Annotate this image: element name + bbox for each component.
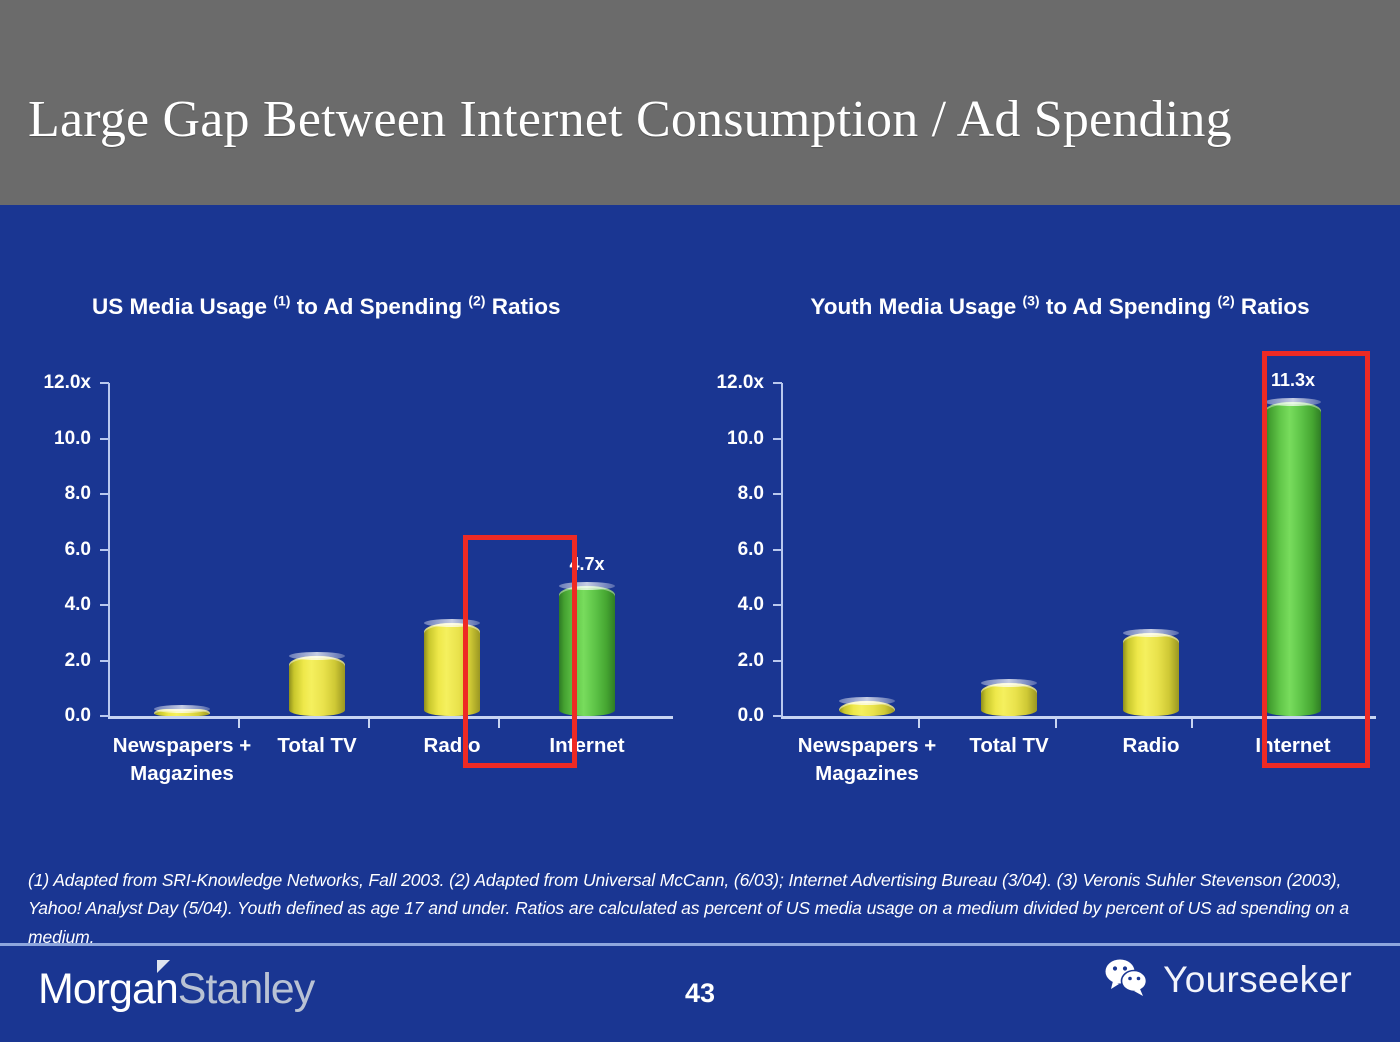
plot-area-us: 0.02.04.06.08.010.012.0xNewspapers + Mag… [0, 205, 720, 805]
highlight-box-internet [1262, 351, 1370, 768]
footnote-text: (1) Adapted from SRI-Knowledge Networks,… [28, 866, 1373, 951]
y-axis-tick [100, 715, 109, 717]
y-axis-tick [100, 604, 109, 606]
y-axis-tick [100, 438, 109, 440]
y-axis-tick [773, 549, 782, 551]
highlight-box-internet [463, 535, 577, 768]
y-axis-label: 10.0 [686, 428, 764, 450]
y-axis-label: 4.0 [13, 594, 91, 616]
chart-panel-us-media-usage: US Media Usage (1) to Ad Spending (2) Ra… [0, 205, 720, 805]
bar-top-ellipse [839, 697, 895, 705]
bar-radio [1123, 633, 1179, 716]
footer-divider [0, 943, 1400, 946]
y-axis-label: 6.0 [13, 539, 91, 561]
y-axis-label: 8.0 [13, 483, 91, 505]
y-axis [108, 383, 110, 718]
y-axis-tick [100, 382, 109, 384]
y-axis-label: 2.0 [686, 650, 764, 672]
x-axis [108, 716, 673, 719]
y-axis-tick [773, 493, 782, 495]
y-axis-tick [773, 438, 782, 440]
chart-panel-youth-media-usage: Youth Media Usage (3) to Ad Spending (2)… [720, 205, 1400, 805]
x-axis-tick [1191, 719, 1193, 728]
bar-newspapers-magazines [839, 701, 895, 716]
slide: Large Gap Between Internet Consumption /… [0, 0, 1400, 1042]
y-axis-tick [100, 660, 109, 662]
y-axis-tick [773, 715, 782, 717]
bar-total-tv [981, 683, 1037, 716]
y-axis-label: 0.0 [13, 705, 91, 727]
y-axis-tick [100, 493, 109, 495]
wechat-icon [1104, 958, 1150, 1001]
bar-top-ellipse [981, 679, 1037, 687]
y-axis-label: 2.0 [13, 650, 91, 672]
x-axis-tick [918, 719, 920, 728]
x-axis-tick [1055, 719, 1057, 728]
y-axis-label: 0.0 [686, 705, 764, 727]
y-axis-label: 6.0 [686, 539, 764, 561]
watermark-label: Yourseeker [1163, 959, 1352, 1001]
bar-top-ellipse [1123, 629, 1179, 637]
bar-total-tv [289, 656, 345, 716]
x-axis-tick [238, 719, 240, 728]
bar-newspapers-magazines [154, 709, 210, 716]
bar-top-ellipse [289, 652, 345, 660]
y-axis-tick [773, 382, 782, 384]
y-axis-label: 4.0 [686, 594, 764, 616]
y-axis-tick [773, 604, 782, 606]
bar-top-ellipse [154, 705, 210, 713]
plot-area-youth: 0.02.04.06.08.010.012.0xNewspapers + Mag… [720, 205, 1400, 805]
y-axis-label: 8.0 [686, 483, 764, 505]
y-axis [781, 383, 783, 718]
y-axis-label: 12.0x [13, 372, 91, 394]
y-axis-label: 12.0x [686, 372, 764, 394]
page-title: Large Gap Between Internet Consumption /… [28, 90, 1378, 149]
y-axis-tick [100, 549, 109, 551]
y-axis-label: 10.0 [13, 428, 91, 450]
x-axis-tick [368, 719, 370, 728]
y-axis-tick [773, 660, 782, 662]
morgan-stanley-triangle-icon [157, 960, 170, 973]
watermark: Yourseeker [1104, 958, 1352, 1001]
